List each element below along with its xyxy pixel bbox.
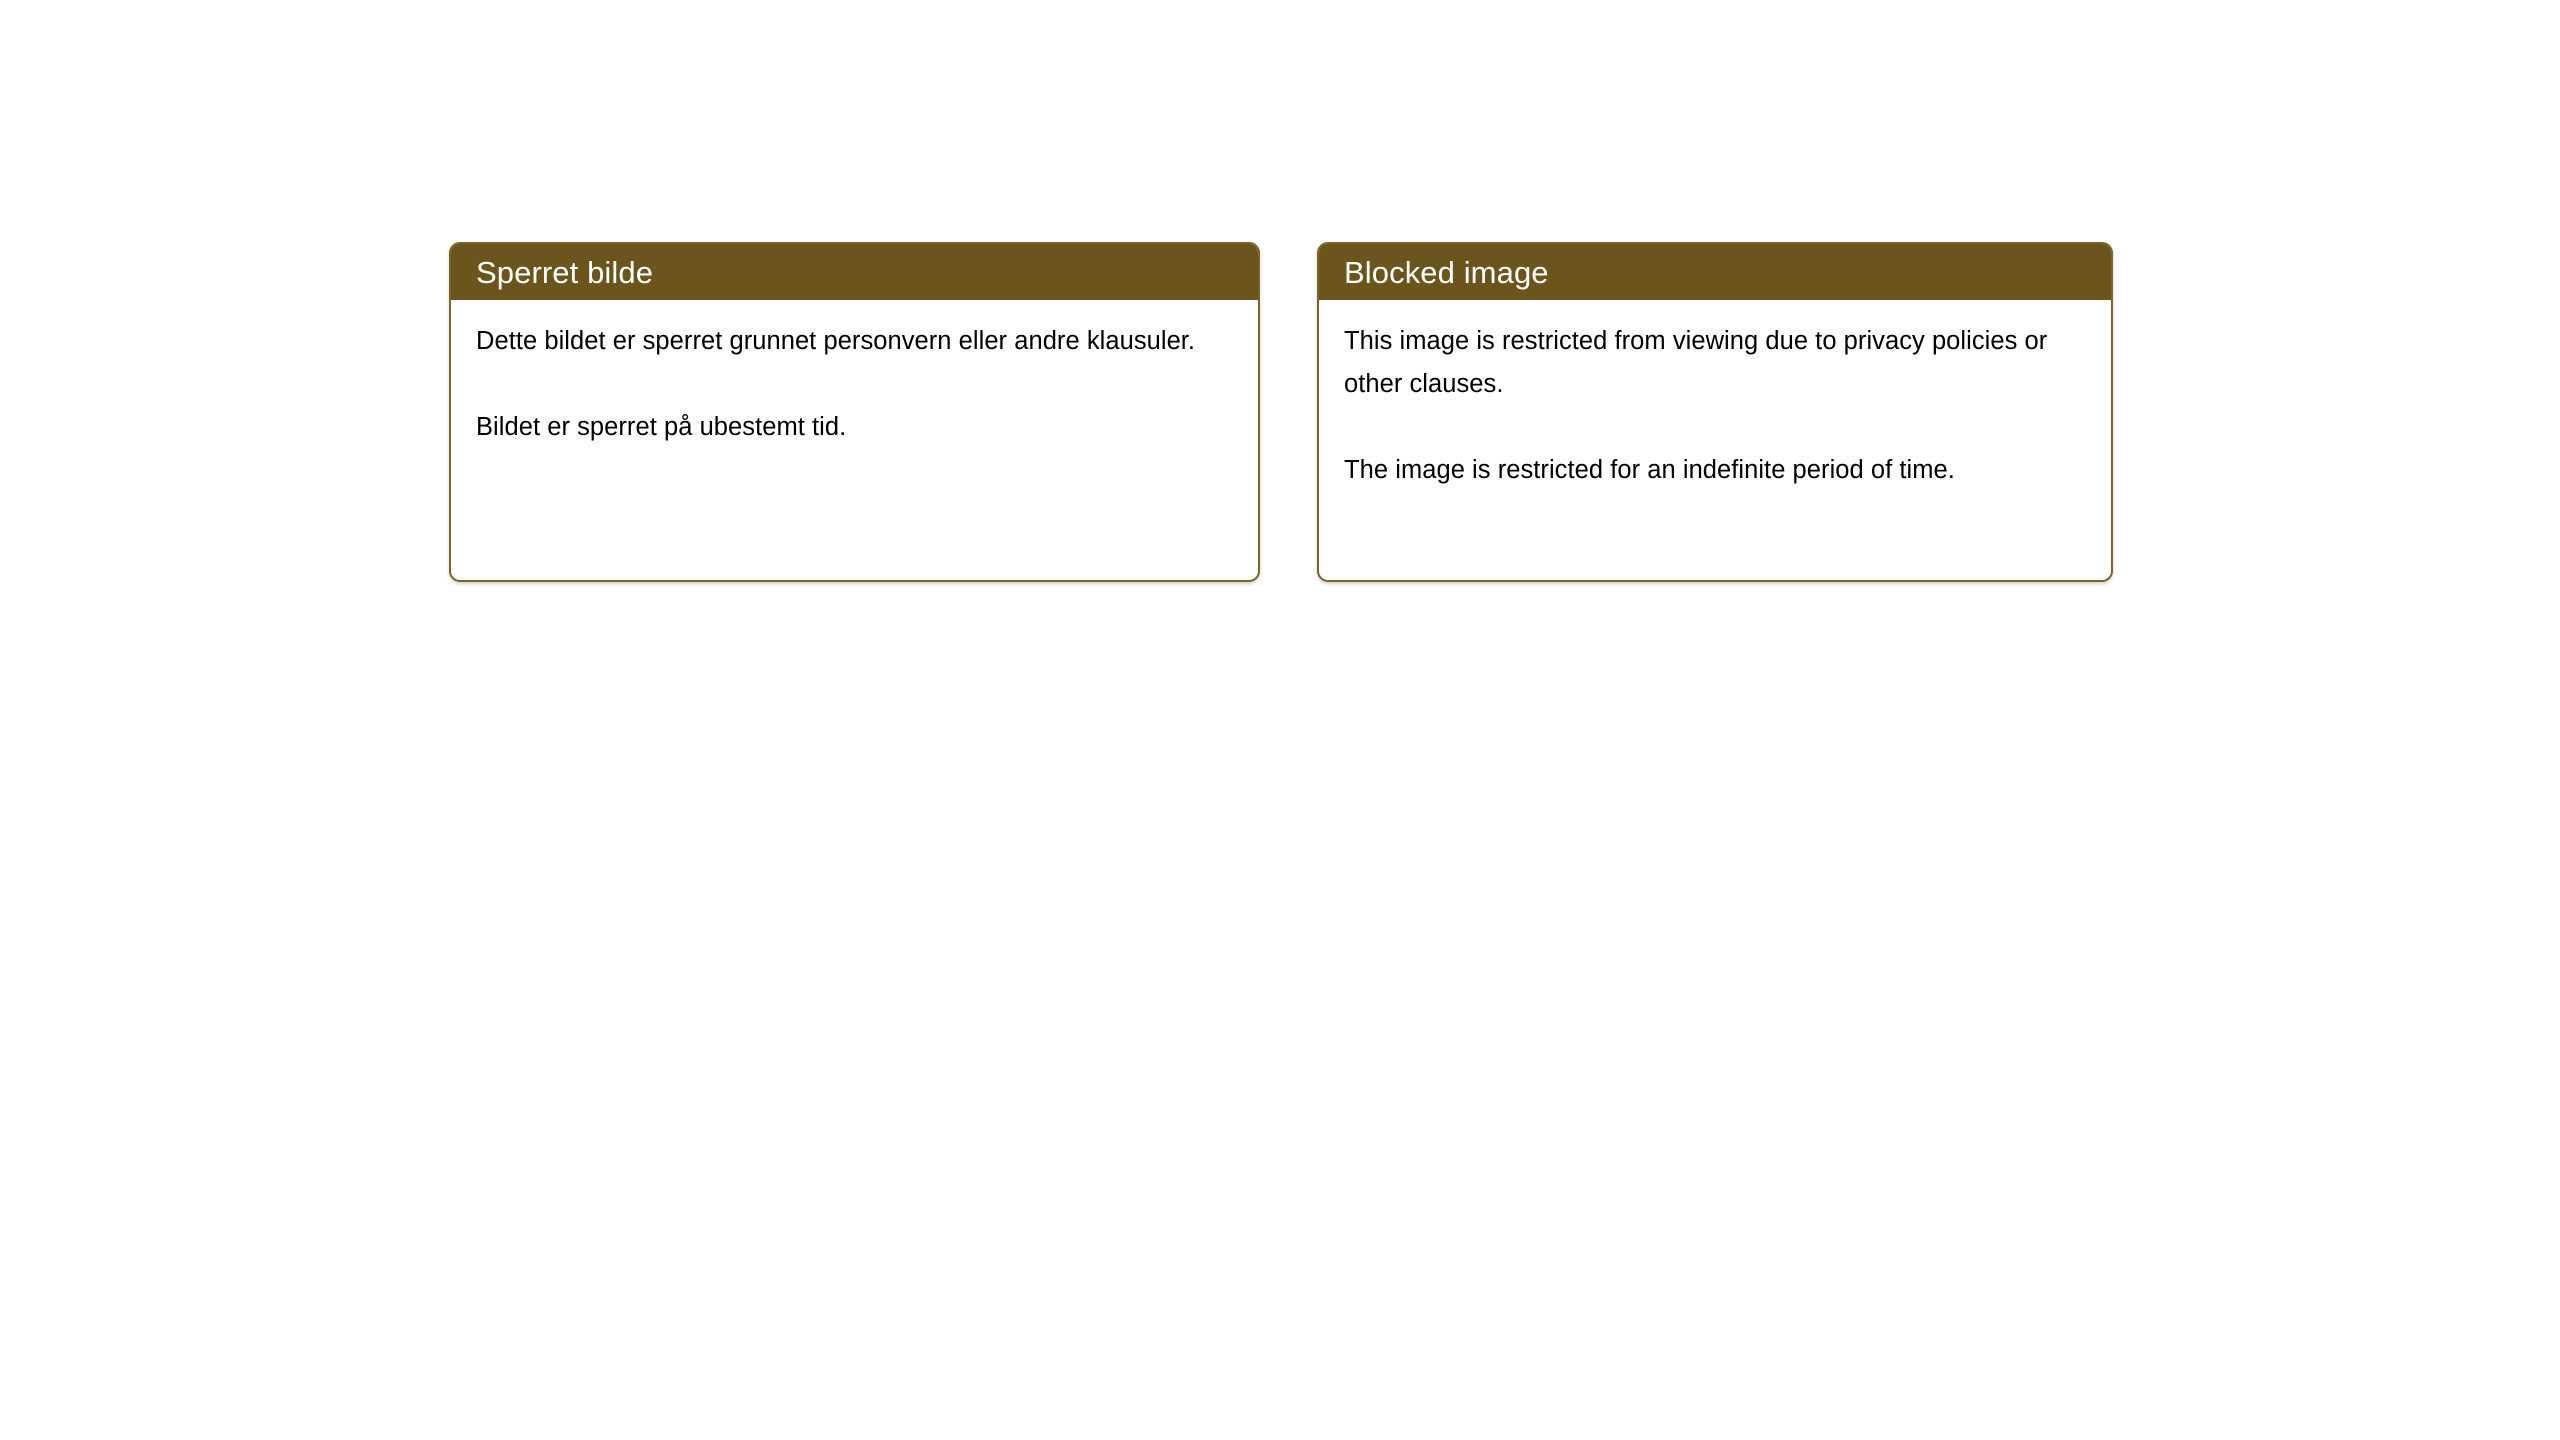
card-paragraph-primary-norwegian: Dette bildet er sperret grunnet personve… bbox=[476, 320, 1236, 363]
blocked-image-notice-card-english: Blocked image This image is restricted f… bbox=[1317, 242, 2113, 582]
card-title-norwegian: Sperret bilde bbox=[476, 257, 653, 288]
card-header-norwegian: Sperret bilde bbox=[451, 244, 1258, 300]
card-body-norwegian: Dette bildet er sperret grunnet personve… bbox=[451, 300, 1258, 449]
card-paragraph-primary-english: This image is restricted from viewing du… bbox=[1344, 320, 2089, 406]
blocked-image-notice-card-norwegian: Sperret bilde Dette bildet er sperret gr… bbox=[449, 242, 1260, 582]
card-title-english: Blocked image bbox=[1344, 257, 1549, 288]
card-paragraph-secondary-english: The image is restricted for an indefinit… bbox=[1344, 449, 2089, 492]
card-body-english: This image is restricted from viewing du… bbox=[1319, 300, 2111, 492]
page-root: Sperret bilde Dette bildet er sperret gr… bbox=[0, 0, 2560, 1440]
card-header-english: Blocked image bbox=[1319, 244, 2111, 300]
card-paragraph-secondary-norwegian: Bildet er sperret på ubestemt tid. bbox=[476, 406, 1236, 449]
